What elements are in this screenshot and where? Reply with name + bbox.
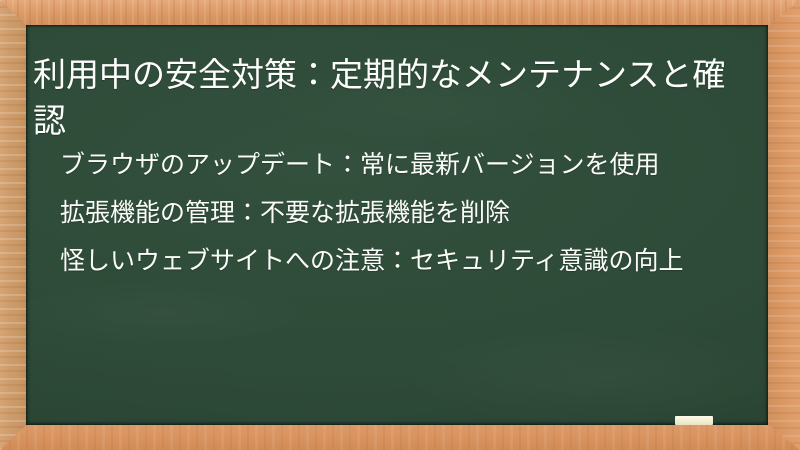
bullet-item-1: ブラウザのアップデート：常に最新バージョンを使用 <box>60 147 750 183</box>
wood-frame-right <box>768 0 800 450</box>
bullet-list: ブラウザのアップデート：常に最新バージョンを使用 拡張機能の管理：不要な拡張機能… <box>60 147 750 279</box>
wood-frame-bottom <box>0 424 800 450</box>
wood-frame-top <box>0 0 800 26</box>
wood-frame-left <box>0 0 27 450</box>
chalk-eraser <box>675 416 713 425</box>
slide-title: 利用中の安全対策：定期的なメンテナンスと確認 <box>33 52 745 144</box>
chalkboard-surface: 利用中の安全対策：定期的なメンテナンスと確認 ブラウザのアップデート：常に最新バ… <box>26 25 768 425</box>
chalkboard-slide: 利用中の安全対策：定期的なメンテナンスと確認 ブラウザのアップデート：常に最新バ… <box>0 0 800 450</box>
bullet-item-3: 怪しいウェブサイトへの注意：セキュリティ意識の向上 <box>60 243 750 279</box>
bullet-item-2: 拡張機能の管理：不要な拡張機能を削除 <box>60 195 750 231</box>
